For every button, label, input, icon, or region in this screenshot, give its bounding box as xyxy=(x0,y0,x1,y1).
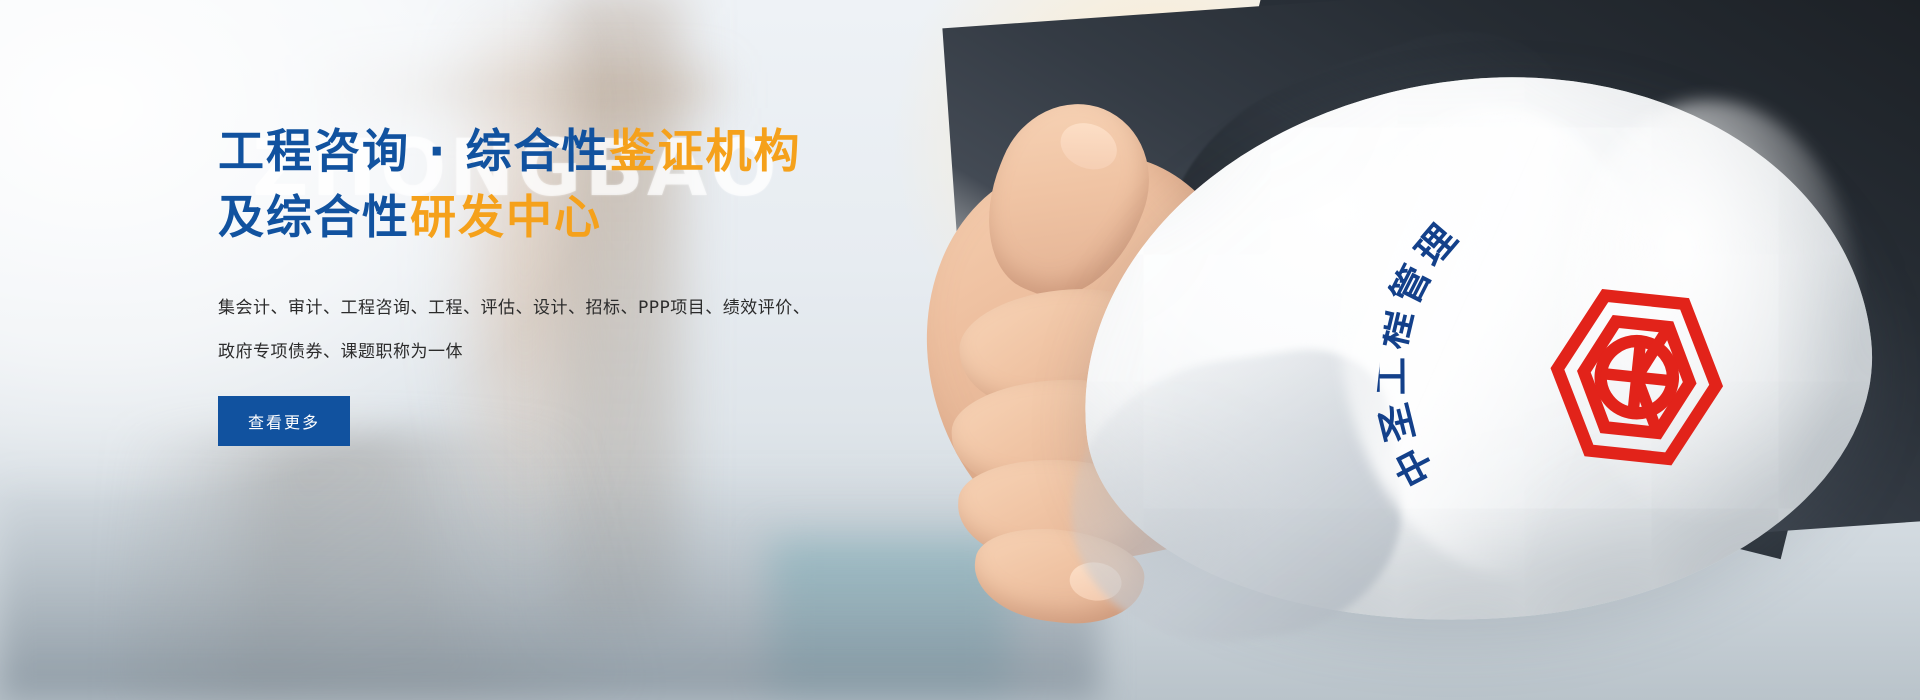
safety-helmet: 中圣工程管理 xyxy=(1040,60,1920,680)
headline-line-1-accent: 鉴证机构 xyxy=(610,124,802,178)
hexagon-emblem-icon xyxy=(1532,273,1741,482)
view-more-button[interactable]: 查看更多 xyxy=(218,396,350,446)
headline-line-2-primary: 及综合性 xyxy=(218,190,410,244)
description-line-2: 政府专项债券、课题职称为一体 xyxy=(218,330,818,374)
headline-line-2-accent: 研发中心 xyxy=(410,190,602,244)
banner-description: 集会计、审计、工程咨询、工程、评估、设计、招标、PPP项目、绩效评价、 政府专项… xyxy=(218,286,818,374)
banner-content: ZHONGBAO 工程咨询 · 综合性鉴证机构 及综合性研发中心 集会计、审计、… xyxy=(218,118,978,446)
headline-line-1-primary: 工程咨询 · 综合性 xyxy=(218,124,610,178)
description-line-1: 集会计、审计、工程咨询、工程、评估、设计、招标、PPP项目、绩效评价、 xyxy=(218,286,818,330)
hero-banner: 中圣工程管理 ZHONGBAO 工程咨询 · 综合性鉴证机构 xyxy=(0,0,1920,700)
helmet-logo: 中圣工程管理 xyxy=(1454,194,1817,557)
headline-line-2: 及综合性研发中心 xyxy=(218,184,978,250)
headline-line-1: 工程咨询 · 综合性鉴证机构 xyxy=(218,118,978,184)
